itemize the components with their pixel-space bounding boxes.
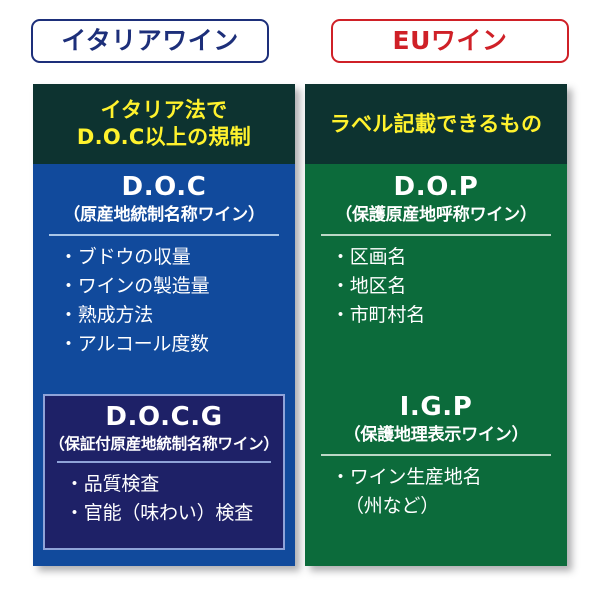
igp-bullet-list: ・ワイン生産地名 （州など） [305, 456, 567, 521]
header-cell-eu: EUワイン [300, 18, 600, 64]
list-item: ・ブドウの収量 [59, 243, 295, 272]
eu-banner: ラベル記載できるもの [305, 84, 567, 164]
panels-container: イタリア法で D.O.C以上の規制 D.O.C （原産地統制名称ワイン） ・ブド… [33, 84, 567, 566]
header-row: イタリアワイン EUワイン [0, 18, 600, 64]
list-item: ・地区名 [331, 272, 567, 301]
infographic-root: イタリアワイン EUワイン イタリア法で D.O.C以上の規制 D.O.C （原… [0, 0, 600, 600]
doc-code: D.O.C [33, 173, 295, 203]
list-item: ・ワインの製造量 [59, 272, 295, 301]
list-item: ・市町村名 [331, 301, 567, 330]
header-pill-eu-wine: EUワイン [331, 19, 569, 63]
dop-title-block: D.O.P （保護原産地呼称ワイン） [305, 164, 567, 225]
docg-subtitle: （保証付原産地統制名称ワイン） [45, 435, 283, 454]
docg-title-block: D.O.C.G （保証付原産地統制名称ワイン） [45, 396, 283, 453]
italy-banner-line2: D.O.C以上の規制 [77, 124, 251, 151]
list-item-continuation: （州など） [331, 492, 567, 521]
list-item: ・熟成方法 [59, 301, 295, 330]
list-item: ・アルコール度数 [59, 330, 295, 359]
igp-subtitle: （保護地理表示ワイン） [305, 425, 567, 445]
list-item: ・品質検査 [65, 470, 283, 499]
docg-code: D.O.C.G [45, 403, 283, 433]
italy-banner-line1: イタリア法で [101, 97, 228, 124]
dop-code: D.O.P [305, 173, 567, 203]
header-pill-italian-wine: イタリアワイン [31, 19, 269, 63]
igp-section: I.G.P （保護地理表示ワイン） ・ワイン生産地名 （州など） [305, 384, 567, 521]
list-item: ・官能（味わい）検査 [65, 499, 283, 528]
doc-bullet-list: ・ブドウの収量 ・ワインの製造量 ・熟成方法 ・アルコール度数 [33, 236, 295, 359]
doc-title-block: D.O.C （原産地統制名称ワイン） [33, 164, 295, 225]
eu-banner-line1: ラベル記載できるもの [330, 111, 543, 138]
docg-bullet-list: ・品質検査 ・官能（味わい）検査 [45, 463, 283, 528]
header-cell-italy: イタリアワイン [0, 18, 300, 64]
italy-banner: イタリア法で D.O.C以上の規制 [33, 84, 295, 164]
docg-box: D.O.C.G （保証付原産地統制名称ワイン） ・品質検査 ・官能（味わい）検査 [43, 394, 285, 550]
dop-bullet-list: ・区画名 ・地区名 ・市町村名 [305, 236, 567, 330]
igp-code: I.G.P [305, 393, 567, 423]
list-item: ・区画名 [331, 243, 567, 272]
igp-title-block: I.G.P （保護地理表示ワイン） [305, 384, 567, 445]
dop-subtitle: （保護原産地呼称ワイン） [305, 205, 567, 225]
doc-subtitle: （原産地統制名称ワイン） [33, 205, 295, 225]
panel-eu-wine: ラベル記載できるもの D.O.P （保護原産地呼称ワイン） ・区画名 ・地区名 … [305, 84, 567, 566]
panel-italian-wine: イタリア法で D.O.C以上の規制 D.O.C （原産地統制名称ワイン） ・ブド… [33, 84, 295, 566]
list-item: ・ワイン生産地名 [331, 463, 567, 492]
